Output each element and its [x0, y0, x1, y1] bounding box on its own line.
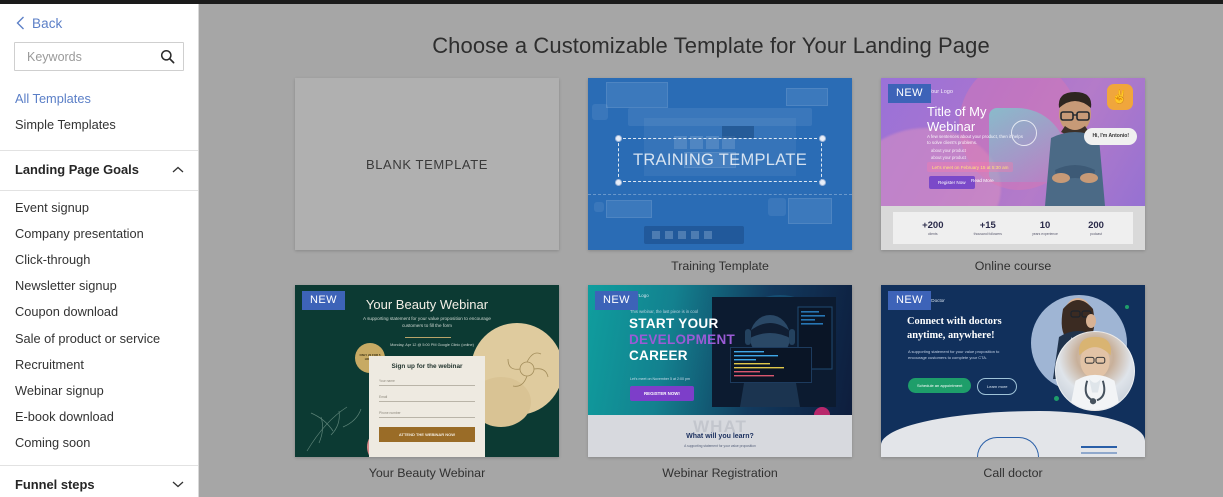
sidebar-item-event-signup[interactable]: Event signup: [0, 194, 198, 220]
stat-label: podcast: [1088, 232, 1104, 237]
decorative-dot: [1125, 305, 1129, 309]
stats-row: +200 clients +15 thousand followers 10 y…: [893, 212, 1133, 244]
preview-cta-secondary: Learn more: [977, 378, 1017, 395]
sidebar-item-newsletter-signup[interactable]: Newsletter signup: [0, 273, 198, 299]
stats-bar: +200 clients +15 thousand followers 10 y…: [881, 206, 1145, 250]
template-caption: Webinar Registration: [588, 457, 852, 480]
chevron-down-icon[interactable]: [172, 480, 184, 488]
template-card-blank-template[interactable]: BLANK TEMPLATE: [295, 78, 559, 273]
tooltip-box: [786, 88, 828, 106]
toolbar-label: [722, 126, 754, 138]
form-field: Phone number: [379, 411, 475, 418]
section-divider: [588, 194, 852, 195]
sidebar-item-recruitment[interactable]: Recruitment: [0, 351, 198, 377]
stat-label: thousand followers: [974, 232, 1002, 237]
back-label: Back: [32, 16, 62, 31]
page-title: Choose a Customizable Template for Your …: [199, 4, 1223, 59]
sidebar-item-sale-of-product-or-service[interactable]: Sale of product or service: [0, 325, 198, 351]
preview-section: WHAT What will you learn? A supporting s…: [588, 415, 852, 457]
template-caption: Your Beauty Webinar: [295, 457, 559, 480]
preview-bullets: about your product about your product: [931, 148, 966, 161]
blank-template-label: BLANK TEMPLATE: [366, 157, 488, 172]
template-thumbnail[interactable]: BLANK TEMPLATE: [295, 78, 559, 250]
template-card-online-course[interactable]: NEW Your Logo Title of My Webinar A few …: [881, 78, 1145, 273]
template-picker-screen: Back All Templates Simple Templates Land…: [0, 0, 1223, 497]
search-icon[interactable]: [160, 49, 175, 64]
preview-paragraph: A few sentences about your product, then…: [927, 134, 1027, 146]
wave-section: [881, 411, 1145, 457]
divider: [405, 337, 451, 338]
stat-item: 10 years experience: [1032, 220, 1058, 237]
decorative-arc: [977, 437, 1039, 457]
window-top-bar: [0, 0, 1223, 4]
tooltip-box: [788, 198, 832, 224]
preview-cta-secondary: Read More: [971, 178, 994, 183]
stat-item: +15 thousand followers: [974, 220, 1002, 237]
preview-date: Let's meet on February 15 at 5:30 am: [927, 162, 1013, 172]
hand-icon: ✌: [1107, 84, 1133, 110]
preview-logo: Your Logo: [928, 89, 953, 95]
template-card-webinar-registration[interactable]: NEW YourLogo This webinar, the last piec…: [588, 285, 852, 480]
stat-value: 200: [1088, 220, 1104, 231]
sidebar-item-all-templates[interactable]: All Templates: [0, 86, 198, 112]
preview-heading: START YOUR DEVELOPMENT CAREER: [629, 316, 735, 364]
search-container: [0, 32, 198, 71]
tooltip-box: [606, 200, 652, 218]
preview-heading: Connect with doctors anytime, anywhere!: [907, 315, 1027, 343]
signup-form-preview: Sign up for the webinar Your name Email …: [369, 356, 485, 457]
sidebar-item-e-book-download[interactable]: E-book download: [0, 404, 198, 430]
training-template-label: TRAINING TEMPLATE: [588, 138, 852, 182]
sidebar-item-click-through[interactable]: Click-through: [0, 246, 198, 272]
preview-cta-primary: Schedule an appointment: [908, 378, 971, 393]
form-field: Your name: [379, 379, 475, 386]
stat-item: 200 podcast: [1088, 220, 1104, 237]
search-box[interactable]: [14, 42, 184, 71]
template-thumbnail[interactable]: NEW YourLogo This webinar, the last piec…: [588, 285, 852, 457]
preview-subheading: A supporting statement for your value pr…: [359, 316, 495, 329]
stat-value: +15: [974, 220, 1002, 231]
template-thumbnail[interactable]: NEW Your Beauty Webinar A supporting sta…: [295, 285, 559, 457]
template-card-training-template[interactable]: TRAINING TEMPLATE Training Template: [588, 78, 852, 273]
preview-meta: Monday, Apr 12 @ 5:00 PM Google Clinic (…: [377, 343, 487, 347]
sidebar-item-company-presentation[interactable]: Company presentation: [0, 220, 198, 246]
group-items-landing-page-goals: Event signup Company presentation Click-…: [0, 191, 198, 463]
preview-cta-primary: Register Now: [929, 176, 975, 189]
template-caption: Call doctor: [881, 457, 1145, 480]
template-caption: Online course: [881, 250, 1145, 273]
template-thumbnail[interactable]: TRAINING TEMPLATE: [588, 78, 852, 250]
sidebar-item-webinar-signup[interactable]: Webinar signup: [0, 377, 198, 403]
footer-bar: [644, 226, 744, 244]
bullet-item: about your product: [931, 148, 966, 155]
form-title: Sign up for the webinar: [379, 363, 475, 370]
template-card-your-beauty-webinar[interactable]: NEW Your Beauty Webinar A supporting sta…: [295, 285, 559, 480]
leaf-illustration: [499, 341, 555, 397]
sidebar-item-simple-templates[interactable]: Simple Templates: [0, 112, 198, 138]
template-grid: BLANK TEMPLATE: [199, 59, 1223, 480]
widget-icon: [592, 104, 608, 120]
stat-value: +200: [922, 220, 943, 231]
code-screen: [730, 347, 812, 383]
tooltip-box: [606, 82, 668, 108]
leaf-illustration: [301, 373, 379, 453]
template-caption: Training Template: [588, 250, 852, 273]
quick-links: All Templates Simple Templates: [0, 71, 198, 148]
heading-line-1: START YOUR: [629, 316, 735, 332]
status-badge: NEW: [302, 291, 345, 310]
section-subtitle: A supporting statement for your value pr…: [588, 444, 852, 448]
template-thumbnail[interactable]: NEW Your Logo Title of My Webinar A few …: [881, 78, 1145, 250]
group-title: Funnel steps: [15, 477, 95, 492]
group-title: Landing Page Goals: [15, 162, 139, 177]
back-button[interactable]: Back: [0, 4, 198, 32]
status-badge: NEW: [888, 291, 931, 310]
template-card-call-doctor[interactable]: NEW YourDoctor Connect with doctors anyt…: [881, 285, 1145, 480]
widget-icon: [768, 198, 786, 216]
speech-bubble: Hi, I'm Antonio!: [1084, 128, 1137, 145]
preview-note: Let's meet on November 5 at 2:00 pm: [630, 377, 690, 381]
preview-kicker: This webinar, the last piece is in cool: [630, 309, 698, 314]
group-header-landing-page-goals[interactable]: Landing Page Goals: [0, 151, 198, 188]
section-title: What will you learn?: [588, 433, 852, 440]
stat-label: clients: [922, 232, 943, 237]
decorative-line: [1081, 452, 1117, 454]
doctor-photo: [1055, 331, 1135, 411]
filters-sidebar: Back All Templates Simple Templates Land…: [0, 4, 199, 497]
preview-paragraph: A supporting statement for your value pr…: [908, 349, 1000, 360]
stat-item: +200 clients: [922, 220, 943, 237]
sidebar-item-coming-soon[interactable]: Coming soon: [0, 430, 198, 456]
widget-icon: [594, 202, 604, 212]
template-thumbnail[interactable]: NEW YourDoctor Connect with doctors anyt…: [881, 285, 1145, 457]
status-badge: NEW: [595, 291, 638, 310]
heading-line-accent: DEVELOPMENT: [629, 332, 735, 348]
decorative-line: [1081, 446, 1117, 448]
bullet-item: about your product: [931, 155, 966, 162]
search-input[interactable]: [15, 50, 183, 64]
chevron-up-icon[interactable]: [172, 166, 184, 174]
chevron-left-icon: [16, 16, 25, 30]
stat-value: 10: [1032, 220, 1058, 231]
preview-heading: Title of My Webinar: [927, 104, 1037, 134]
form-submit-button: ATTEND THE WEBINAR NOW: [379, 427, 475, 442]
sidebar-item-coupon-download[interactable]: Coupon download: [0, 299, 198, 325]
status-badge: NEW: [888, 84, 931, 103]
decorative-dot: [1054, 396, 1059, 401]
template-caption: [295, 250, 559, 259]
preview-cta-primary: REGISTER NOW!: [630, 386, 694, 401]
stat-label: years experience: [1032, 232, 1058, 237]
group-header-funnel-steps[interactable]: Funnel steps: [0, 466, 198, 497]
form-field: Email: [379, 395, 475, 402]
template-gallery: Choose a Customizable Template for Your …: [199, 4, 1223, 497]
presenter-photo: [1031, 86, 1119, 206]
heading-line-3: CAREER: [629, 348, 735, 364]
